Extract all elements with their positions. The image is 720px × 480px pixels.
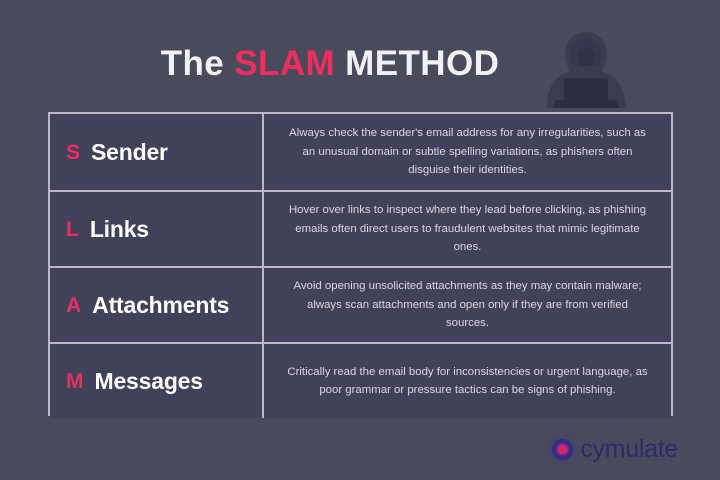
table-cell-description: Critically read the email body for incon… [264,344,671,418]
slam-table: S Sender Always check the sender's email… [48,112,673,416]
title-accent: SLAM [234,44,335,83]
row-description: Critically read the email body for incon… [286,363,649,400]
row-word: Messages [95,370,203,393]
row-description: Always check the sender's email address … [286,124,649,179]
title-before: The [161,44,235,83]
table-row: S Sender Always check the sender's email… [50,114,671,190]
table-cell-label: S Sender [50,114,264,190]
cymulate-logo: cymulate [552,437,678,462]
row-word: Sender [91,141,168,164]
table-cell-label: M Messages [50,344,264,418]
row-description: Hover over links to inspect where they l… [286,201,649,256]
slam-method-poster: The SLAM METHOD S Sender Always check th… [0,0,720,480]
cymulate-circle-logo-icon [552,439,573,460]
row-letter: A [66,295,81,316]
row-word: Links [90,218,149,241]
table-cell-description: Avoid opening unsolicited attachments as… [264,268,671,342]
row-word: Attachments [92,294,229,317]
table-cell-description: Hover over links to inspect where they l… [264,192,671,266]
table-row: L Links Hover over links to inspect wher… [50,190,671,266]
table-cell-label: A Attachments [50,268,264,342]
table-cell-description: Always check the sender's email address … [264,114,671,190]
page-title: The SLAM METHOD [0,44,720,84]
table-cell-label: L Links [50,192,264,266]
title-after: METHOD [335,44,499,83]
row-letter: M [66,371,84,392]
table-row: M Messages Critically read the email bod… [50,342,671,418]
row-description: Avoid opening unsolicited attachments as… [286,277,649,332]
row-letter: L [66,219,79,240]
row-letter: S [66,142,80,163]
cymulate-wordmark: cymulate [580,437,678,462]
table-row: A Attachments Avoid opening unsolicited … [50,266,671,342]
